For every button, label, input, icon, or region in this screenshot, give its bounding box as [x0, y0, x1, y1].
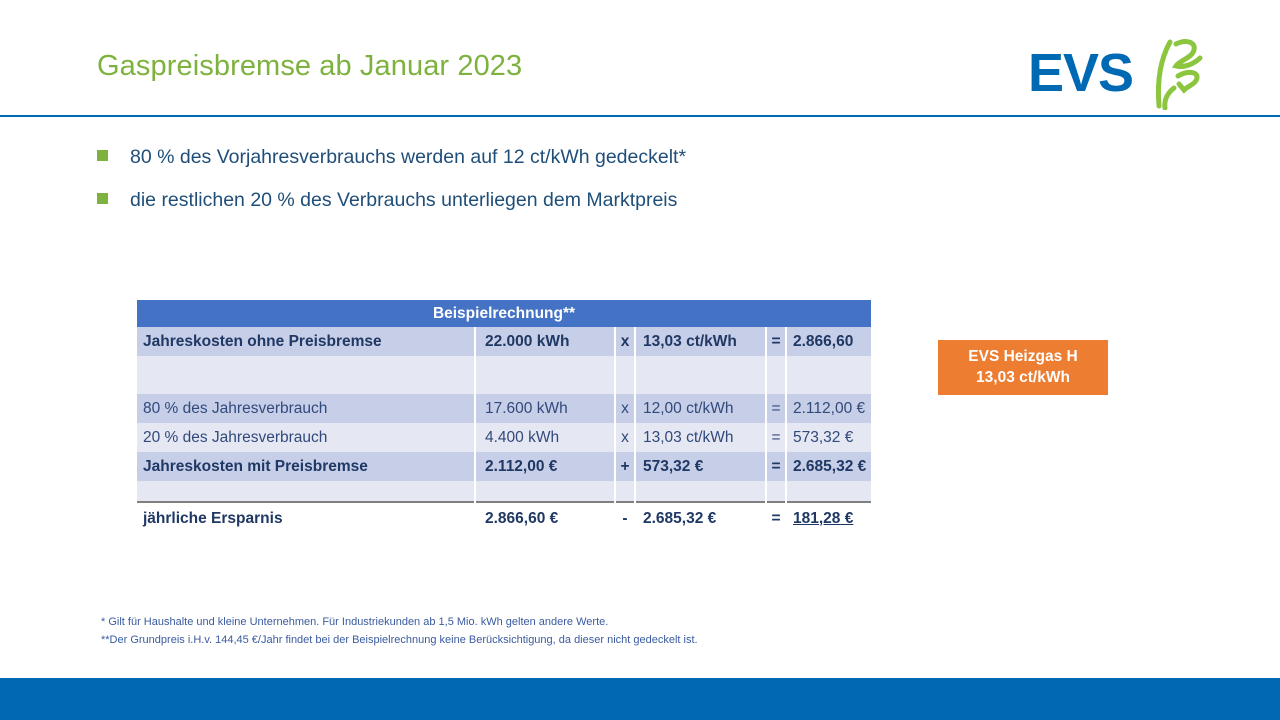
table-row: Jahreskosten ohne Preisbremse22.000 kWhx…: [137, 327, 871, 356]
logo-wordmark: EVS: [1028, 46, 1133, 100]
bullet-square-icon: [97, 150, 108, 161]
evs-logo: EVS: [1028, 36, 1220, 110]
cell-equals: =: [766, 502, 786, 534]
cell-value: 22.000 kWh: [475, 327, 615, 356]
cell-rate: [635, 481, 766, 502]
cell-operator: [615, 356, 635, 376]
cell-value: [475, 376, 615, 394]
cell-rate: 13,03 ct/kWh: [635, 327, 766, 356]
cell-value: 17.600 kWh: [475, 394, 615, 423]
cell-rate: 12,00 ct/kWh: [635, 394, 766, 423]
cell-result: 2.685,32 €: [786, 452, 871, 481]
cell-value: 4.400 kWh: [475, 423, 615, 452]
cell-label: [137, 376, 475, 394]
table-row: Jahreskosten mit Preisbremse2.112,00 €+5…: [137, 452, 871, 481]
bullet-item: die restlichen 20 % des Verbrauchs unter…: [97, 189, 677, 212]
cell-label: Jahreskosten ohne Preisbremse: [137, 327, 475, 356]
cell-equals: =: [766, 452, 786, 481]
cell-result: [786, 481, 871, 502]
callout-price: 13,03 ct/kWh: [976, 368, 1070, 389]
cell-value: [475, 356, 615, 376]
table-row: 80 % des Jahresverbrauch17.600 kWhx12,00…: [137, 394, 871, 423]
cell-result: 2.866,60: [786, 327, 871, 356]
cell-rate: 13,03 ct/kWh: [635, 423, 766, 452]
cell-result: 573,32 €: [786, 423, 871, 452]
cell-equals: [766, 481, 786, 502]
cell-equals: [766, 376, 786, 394]
table-row: jährliche Ersparnis2.866,60 €-2.685,32 €…: [137, 502, 871, 534]
cell-label: 80 % des Jahresverbrauch: [137, 394, 475, 423]
cell-equals: =: [766, 394, 786, 423]
bullet-square-icon: [97, 193, 108, 204]
cell-result: 2.112,00 €: [786, 394, 871, 423]
cell-label: 20 % des Jahresverbrauch: [137, 423, 475, 452]
cell-value: 2.112,00 €: [475, 452, 615, 481]
bullet-label: 80 % des Vorjahresverbrauchs werden auf …: [130, 146, 686, 169]
cell-label: [137, 481, 475, 502]
footnote-2: **Der Grundpreis i.H.v. 144,45 €/Jahr fi…: [101, 631, 698, 649]
table-row: [137, 481, 871, 502]
price-callout-badge: EVS Heizgas H 13,03 ct/kWh: [938, 340, 1108, 395]
cell-operator: x: [615, 394, 635, 423]
table-row: 20 % des Jahresverbrauch4.400 kWhx13,03 …: [137, 423, 871, 452]
cell-operator: [615, 481, 635, 502]
cell-equals: =: [766, 423, 786, 452]
cell-value: [475, 481, 615, 502]
footer-bar: [0, 678, 1280, 720]
cell-operator: -: [615, 502, 635, 534]
cell-value: 2.866,60 €: [475, 502, 615, 534]
cell-rate: [635, 356, 766, 376]
cell-operator: x: [615, 423, 635, 452]
cell-equals: =: [766, 327, 786, 356]
title-divider: [0, 115, 1280, 117]
cell-result: [786, 376, 871, 394]
cell-rate: 573,32 €: [635, 452, 766, 481]
cell-label: jährliche Ersparnis: [137, 502, 475, 534]
table-title: Beispielrechnung**: [137, 300, 871, 327]
cell-operator: x: [615, 327, 635, 356]
savings-value: 181,28 €: [793, 510, 853, 527]
page-title: Gaspreisbremse ab Januar 2023: [97, 50, 522, 83]
cell-result: [786, 356, 871, 376]
footnote-1: * Gilt für Haushalte und kleine Unterneh…: [101, 613, 698, 631]
table-body: Jahreskosten ohne Preisbremse22.000 kWhx…: [137, 327, 871, 534]
example-calculation-table: Beispielrechnung** Jahreskosten ohne Pre…: [137, 300, 871, 534]
cell-label: [137, 356, 475, 376]
cell-operator: +: [615, 452, 635, 481]
cell-label: Jahreskosten mit Preisbremse: [137, 452, 475, 481]
table-row: [137, 356, 871, 376]
cell-rate: [635, 376, 766, 394]
cell-result: 181,28 €: [786, 502, 871, 534]
table-header-row: Beispielrechnung**: [137, 300, 871, 327]
evs-leaf-mark-icon: [1150, 36, 1214, 115]
cell-rate: 2.685,32 €: [635, 502, 766, 534]
cell-equals: [766, 356, 786, 376]
bullet-label: die restlichen 20 % des Verbrauchs unter…: [130, 189, 677, 212]
callout-product-name: EVS Heizgas H: [968, 347, 1077, 368]
table-row: [137, 376, 871, 394]
bullet-item: 80 % des Vorjahresverbrauchs werden auf …: [97, 146, 686, 169]
cell-operator: [615, 376, 635, 394]
footnotes: * Gilt für Haushalte und kleine Unterneh…: [101, 613, 698, 649]
